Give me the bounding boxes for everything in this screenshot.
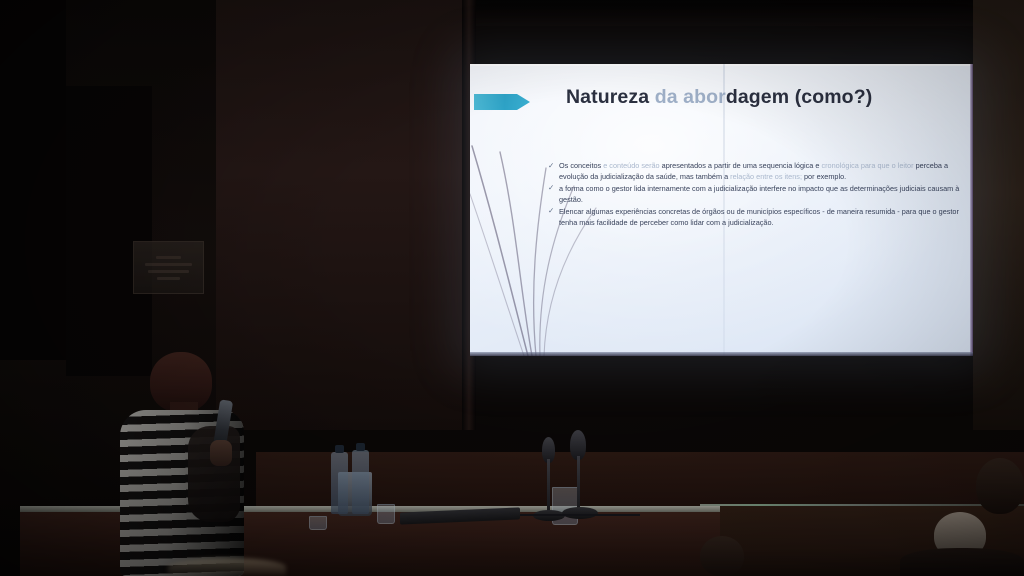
microphone-pole [577,456,580,512]
slide-bullet-list: ✓Os conceitos e conteúdo serão apresenta… [548,160,962,228]
slide-bullet: ✓a forma como o gestor lida internamente… [548,183,962,205]
left-pillar [0,0,66,360]
slide-bullet-text: Os conceitos e conteúdo serão apresentad… [559,160,962,182]
bullet-text-part: apresentados a partir de uma sequencia l… [662,161,822,170]
checkmark-icon: ✓ [548,160,554,171]
slide-title: Natureza da abordagem (como?) [566,86,966,109]
cable [520,514,640,522]
bottle-cap [356,443,365,451]
water-bottle [352,450,369,514]
bullet-text-part: Elencar algumas experiências concretas d… [559,207,959,227]
bullet-text-faded: e conteúdo serão [603,161,661,170]
slide-bullet-text: Elencar algumas experiências concretas d… [559,206,962,228]
bullet-text-faded: relação entre os itens; [730,172,804,181]
screen-right-edge [970,64,973,356]
left-pillar-shadow [66,86,152,376]
screen-top-edge [470,64,973,66]
slide-title-part: dagem (como?) [726,86,872,108]
water-bottle [331,452,348,514]
bullet-text-part: Os conceitos [559,161,603,170]
bullet-text-part: a forma como o gestor lida internamente … [559,184,959,204]
presenter-hand [210,440,232,466]
checkmark-icon: ✓ [548,182,554,193]
microphone-pole [547,459,550,515]
slide-title-faded: da abor [649,86,726,108]
slide-bullet: ✓Os conceitos e conteúdo serão apresenta… [548,160,962,182]
drinking-glass [309,516,327,530]
auditorium-scene: Natureza da abordagem (como?) ✓Os concei… [0,0,1024,576]
floor-light-patch [168,558,286,576]
slide-bullet-text: a forma como o gestor lida internamente … [559,183,962,205]
slide-title-part: Natureza [566,86,649,108]
checkmark-icon: ✓ [548,205,554,216]
audience-shoulders [900,548,1024,576]
wall-placard [133,241,204,294]
wall-placard-text [139,248,198,287]
slide-bullet: ✓Elencar algumas experiências concretas … [548,206,962,228]
title-arrow [474,91,530,113]
drinking-glass [377,504,395,524]
presenter [118,352,260,576]
audience-head [700,536,744,576]
right-wall [973,0,1024,430]
screen-bottom-edge [470,352,973,356]
bullet-text-part: por exemplo. [804,172,846,181]
projection-screen: Natureza da abordagem (como?) ✓Os concei… [470,64,973,356]
bottle-cap [335,445,344,453]
audience-head [976,458,1024,514]
bullet-text-faded: cronológica para que o leitor [821,161,915,170]
